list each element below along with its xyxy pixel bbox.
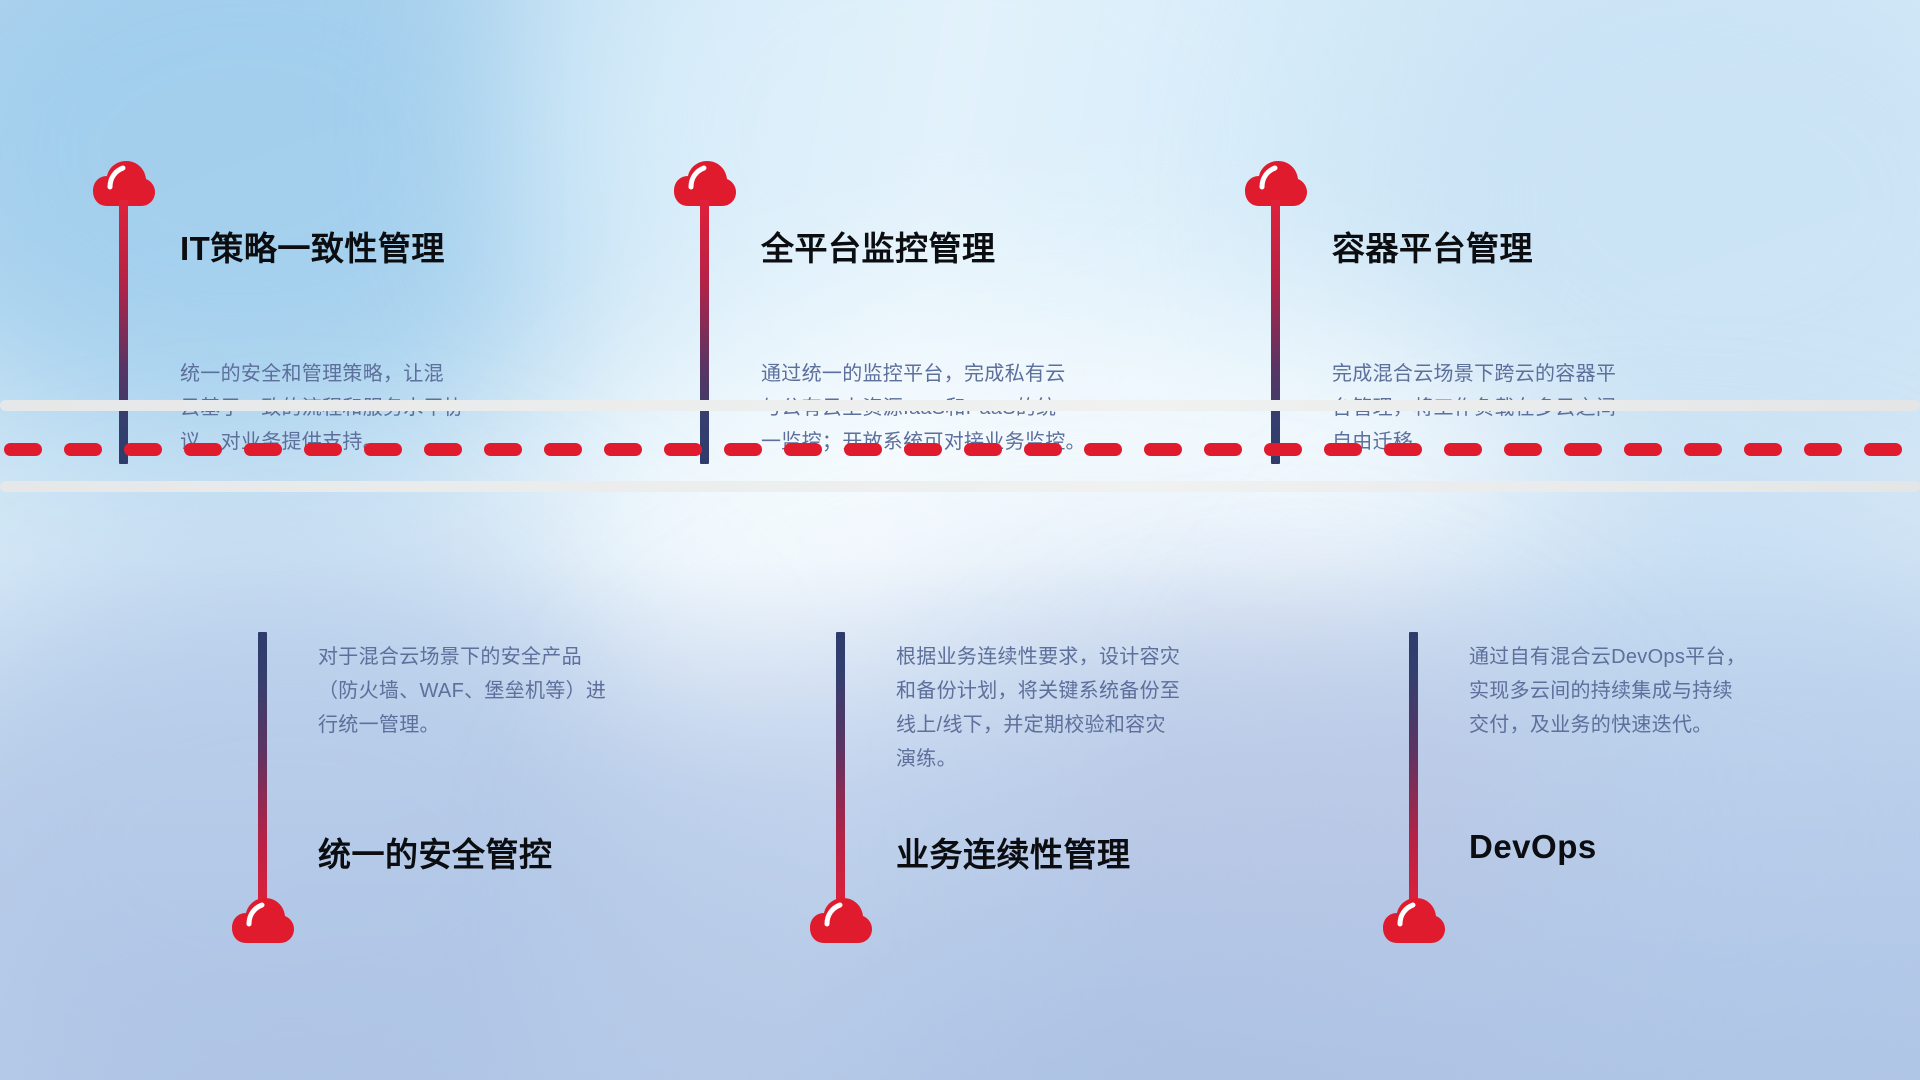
cloud-icon bbox=[232, 898, 294, 944]
divider-dash bbox=[724, 443, 762, 456]
divider-dash bbox=[664, 443, 702, 456]
divider-dash bbox=[64, 443, 102, 456]
top-heading-3: 容器平台管理 bbox=[1332, 222, 1533, 270]
pin-line bbox=[700, 200, 709, 464]
bottom-body-2: 根据业务连续性要求，设计容灾 和备份计划，将关键系统备份至 线上/线下，并定期校… bbox=[896, 640, 1336, 776]
divider-dash bbox=[184, 443, 222, 456]
divider-dash bbox=[1384, 443, 1422, 456]
divider-dash bbox=[424, 443, 462, 456]
divider-dashed-line bbox=[0, 443, 1920, 456]
divider-dash bbox=[1264, 443, 1302, 456]
divider-dash bbox=[1624, 443, 1662, 456]
pin-line bbox=[836, 632, 845, 912]
divider-dash bbox=[1684, 443, 1722, 456]
divider-dash bbox=[364, 443, 402, 456]
pin-line bbox=[119, 200, 128, 464]
divider-dash bbox=[1144, 443, 1182, 456]
divider-bar-top bbox=[0, 400, 1920, 411]
background-bottom-tint bbox=[0, 560, 1920, 1080]
divider-dash bbox=[244, 443, 282, 456]
divider-dash bbox=[1864, 443, 1902, 456]
divider-dash bbox=[904, 443, 942, 456]
bottom-heading-1: 统一的安全管控 bbox=[318, 828, 553, 876]
divider-dash bbox=[1084, 443, 1122, 456]
pin-line bbox=[1271, 200, 1280, 464]
divider-dash bbox=[1204, 443, 1242, 456]
pin-line bbox=[258, 632, 267, 912]
bottom-body-1: 对于混合云场景下的安全产品 （防火墙、WAF、堡垒机等）进 行统一管理。 bbox=[318, 640, 748, 742]
divider-dash bbox=[1564, 443, 1602, 456]
top-heading-1: IT策略一致性管理 bbox=[180, 222, 445, 270]
divider-dash bbox=[544, 443, 582, 456]
divider-dash bbox=[4, 443, 42, 456]
infographic-canvas: IT策略一致性管理 统一的安全和管理策略，让混 云基于一致的流程和服务水平协 议… bbox=[0, 0, 1920, 1080]
divider-bar-bottom bbox=[0, 481, 1920, 492]
top-heading-2: 全平台监控管理 bbox=[761, 222, 996, 270]
cloud-icon bbox=[1383, 898, 1445, 944]
divider-dash bbox=[304, 443, 342, 456]
bottom-heading-3: DevOps bbox=[1469, 828, 1597, 866]
bottom-body-3: 通过自有混合云DevOps平台， 实现多云间的持续集成与持续 交付，及业务的快速… bbox=[1469, 640, 1899, 742]
divider-dash bbox=[964, 443, 1002, 456]
divider-dash bbox=[1744, 443, 1782, 456]
pin-line bbox=[1409, 632, 1418, 912]
divider-dash bbox=[1444, 443, 1482, 456]
divider-dash bbox=[124, 443, 162, 456]
divider-dash bbox=[604, 443, 642, 456]
divider-dash bbox=[784, 443, 822, 456]
divider-dash bbox=[1804, 443, 1842, 456]
divider-dash bbox=[1024, 443, 1062, 456]
cloud-icon bbox=[810, 898, 872, 944]
bottom-heading-2: 业务连续性管理 bbox=[896, 828, 1131, 876]
divider-dash bbox=[1324, 443, 1362, 456]
divider-dash bbox=[1504, 443, 1542, 456]
divider-dash bbox=[844, 443, 882, 456]
divider-dash bbox=[484, 443, 522, 456]
